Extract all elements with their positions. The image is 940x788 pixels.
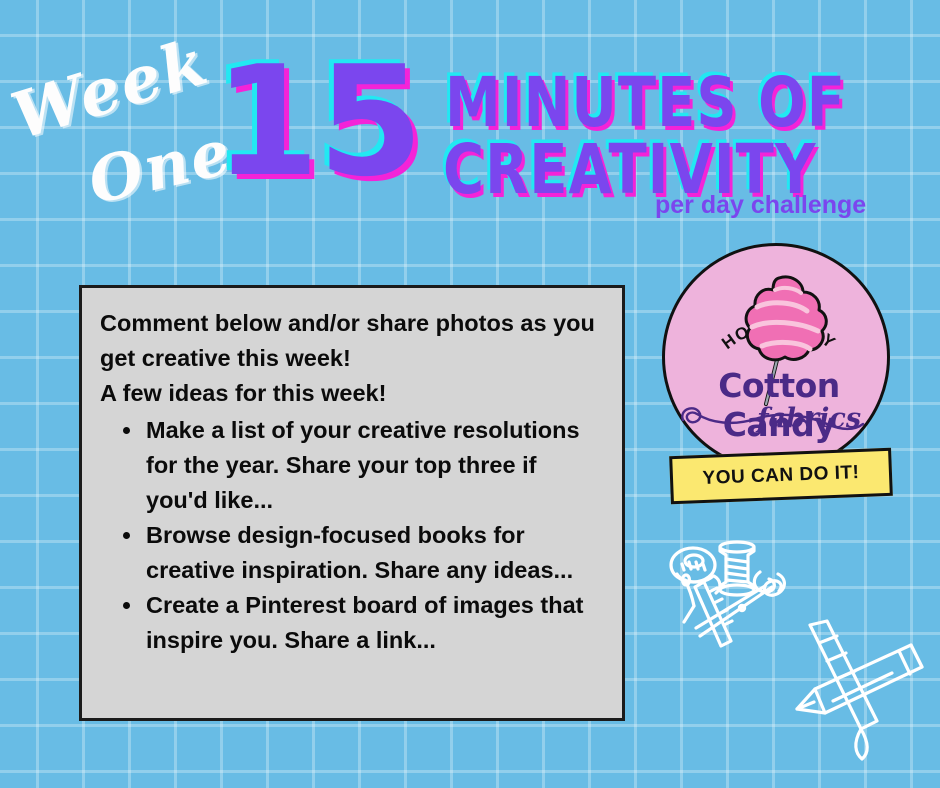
- ideas-heading: A few ideas for this week!: [100, 376, 602, 411]
- encouragement-banner: YOU CAN DO IT!: [669, 448, 893, 504]
- ideas-list: Make a list of your creative resolutions…: [100, 413, 602, 658]
- list-item: Browse design-focused books for creative…: [144, 518, 602, 588]
- logo-brand-sub: fabrics: [665, 403, 893, 434]
- content-panel: Comment below and/or share photos as you…: [79, 285, 625, 721]
- sewing-supplies-icon: [664, 536, 804, 676]
- pencil-paintbrush-icon: [793, 617, 928, 762]
- banner-text: YOU CAN DO IT!: [702, 462, 860, 490]
- poster-canvas: Week One 15 MINUTES OF CREATIVITY per da…: [0, 0, 940, 788]
- headline-number: 15: [214, 48, 422, 196]
- list-item: Make a list of your creative resolutions…: [144, 413, 602, 518]
- headline-subtitle: per day challenge: [655, 191, 866, 220]
- logo-badge: HOSTED BY Cotton Candy fabrics: [662, 243, 890, 471]
- list-item: Create a Pinterest board of images that …: [144, 588, 602, 658]
- intro-text: Comment below and/or share photos as you…: [100, 306, 602, 376]
